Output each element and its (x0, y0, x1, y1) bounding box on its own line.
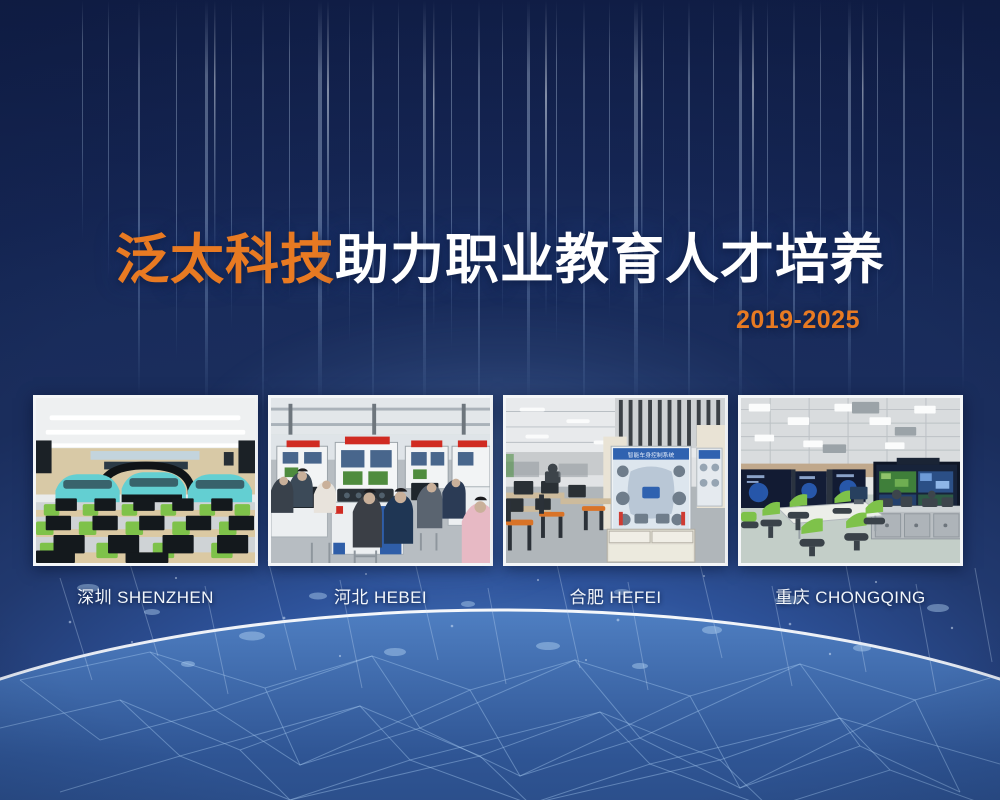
gallery-item-shenzhen[interactable]: HarmonyOS (33, 395, 258, 566)
photo-shenzhen: HarmonyOS (36, 398, 255, 563)
brand-name: 泛太科技 (115, 230, 335, 290)
caption-hefei: 合肥 HEFEI (503, 583, 728, 608)
photo-hefei: 智能车身控制系统 (506, 398, 725, 563)
caption-hebei: 河北 HEBEI (268, 583, 493, 608)
title-tagline: 助力职业教育人才培养 (335, 230, 885, 290)
gallery-item-chongqing[interactable] (738, 395, 963, 566)
gallery-captions: 深圳 SHENZHEN 河北 HEBEI 合肥 HEFEI 重庆 CHONGQI… (33, 583, 969, 608)
caption-chongqing: 重庆 CHONGQING (738, 583, 963, 608)
gallery-item-hebei[interactable] (268, 395, 493, 566)
photo-gallery: HarmonyOS (33, 395, 969, 566)
caption-shenzhen: 深圳 SHENZHEN (33, 583, 258, 608)
poster-canvas: 泛太科技助力职业教育人才培养 2019-2025 Har (0, 0, 1000, 800)
date-range-subtitle: 2019-2025 (0, 306, 860, 335)
svg-text:智能车身控制系统: 智能车身控制系统 (628, 451, 675, 459)
title-block: 泛太科技助力职业教育人才培养 2019-2025 (0, 232, 1000, 335)
gallery-item-hefei[interactable]: 智能车身控制系统 (503, 395, 728, 566)
page-title: 泛太科技助力职业教育人才培养 (0, 232, 1000, 289)
photo-hebei (271, 398, 490, 563)
photo-chongqing (741, 398, 960, 563)
light-streaks-background (0, 0, 1000, 430)
